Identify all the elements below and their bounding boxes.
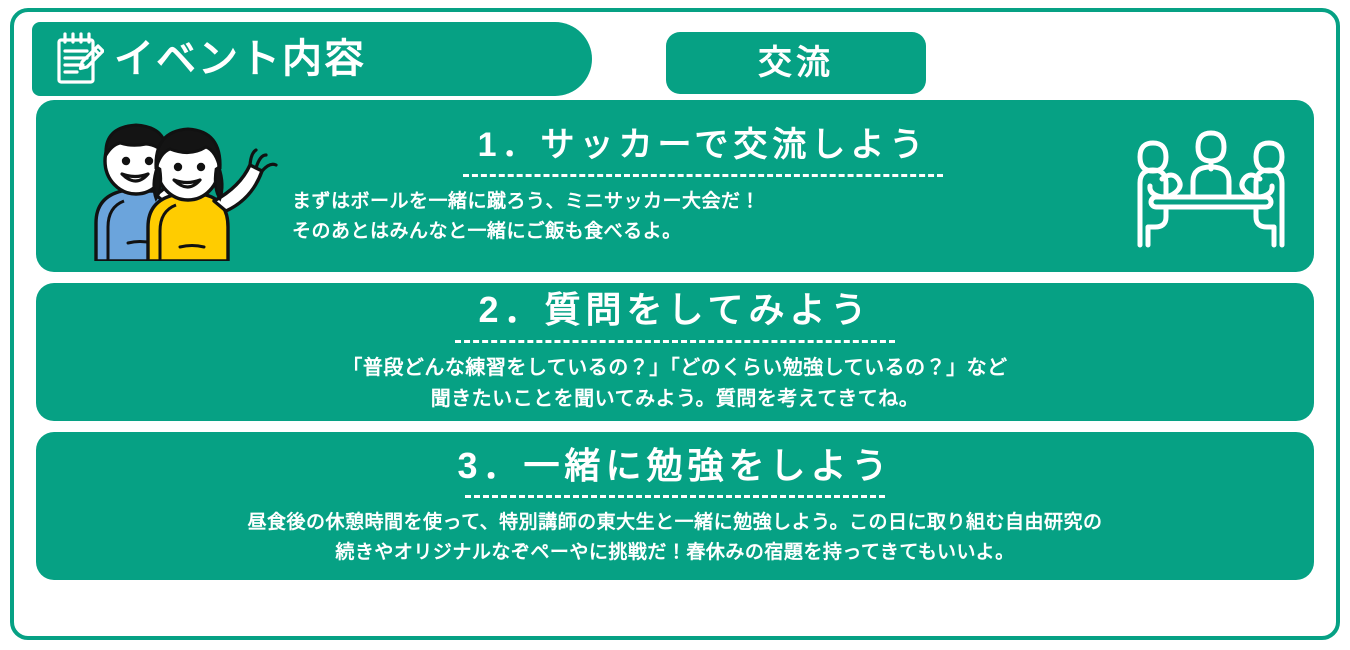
section-3-lines: 昼食後の休憩時間を使って、特別講師の東大生と一緒に勉強しよう。この日に取り組む自… bbox=[62, 508, 1288, 567]
people-at-table-icon bbox=[1126, 121, 1296, 251]
section-3-divider bbox=[465, 495, 885, 498]
category-badge-label: 交流 bbox=[758, 46, 834, 80]
section-panel-1: 1．サッカーで交流しよう まずはボールを一緒に蹴ろう、ミニサッカー大会だ！ その… bbox=[36, 100, 1314, 272]
title-tab: イベント内容 bbox=[32, 22, 592, 96]
section-1-line-2: そのあとはみんなと一緒にご飯も食べるよ。 bbox=[292, 217, 1120, 246]
category-badge: 交流 bbox=[666, 32, 926, 94]
section-3-body: 3．一緒に勉強をしよう 昼食後の休憩時間を使って、特別講師の東大生と一緒に勉強し… bbox=[36, 445, 1314, 567]
section-2-line-1: 「普段どんな練習をしているの？」「どのくらい勉強しているの？」など bbox=[42, 353, 1308, 384]
section-3-heading: 3．一緒に勉強をしよう bbox=[62, 445, 1288, 486]
notepad-pencil-icon bbox=[54, 31, 104, 87]
section-panel-3: 3．一緒に勉強をしよう 昼食後の休憩時間を使って、特別講師の東大生と一緒に勉強し… bbox=[36, 432, 1314, 580]
two-children-waving-illustration bbox=[50, 111, 280, 261]
section-1-body: 1．サッカーで交流しよう まずはボールを一緒に蹴ろう、ミニサッカー大会だ！ その… bbox=[280, 126, 1126, 246]
section-2-line-2: 聞きたいことを聞いてみよう。質問を考えてきてね。 bbox=[42, 384, 1308, 415]
section-1-line-1: まずはボールを一緒に蹴ろう、ミニサッカー大会だ！ bbox=[292, 187, 1120, 216]
section-2-heading: 2．質問をしてみよう bbox=[42, 289, 1308, 330]
page-title: イベント内容 bbox=[114, 39, 366, 79]
section-1-lines: まずはボールを一緒に蹴ろう、ミニサッカー大会だ！ そのあとはみんなと一緒にご飯も… bbox=[286, 187, 1120, 246]
section-panel-2: 2．質問をしてみよう 「普段どんな練習をしているの？」「どのくらい勉強しているの… bbox=[36, 283, 1314, 421]
section-2-divider bbox=[455, 340, 895, 343]
section-1-heading: 1．サッカーで交流しよう bbox=[286, 126, 1120, 165]
section-list: 1．サッカーで交流しよう まずはボールを一緒に蹴ろう、ミニサッカー大会だ！ その… bbox=[36, 100, 1314, 591]
section-3-line-2: 続きやオリジナルなぞペーやに挑戦だ！春休みの宿題を持ってきてもいいよ。 bbox=[62, 538, 1288, 567]
section-3-line-1: 昼食後の休憩時間を使って、特別講師の東大生と一緒に勉強しよう。この日に取り組む自… bbox=[62, 508, 1288, 537]
section-2-lines: 「普段どんな練習をしているの？」「どのくらい勉強しているの？」など 聞きたいこと… bbox=[42, 353, 1308, 415]
event-content-card: イベント内容 交流 bbox=[10, 8, 1340, 640]
section-2-body: 2．質問をしてみよう 「普段どんな練習をしているの？」「どのくらい勉強しているの… bbox=[36, 289, 1314, 414]
card-header: イベント内容 交流 bbox=[14, 12, 1336, 98]
section-1-divider bbox=[463, 174, 943, 177]
